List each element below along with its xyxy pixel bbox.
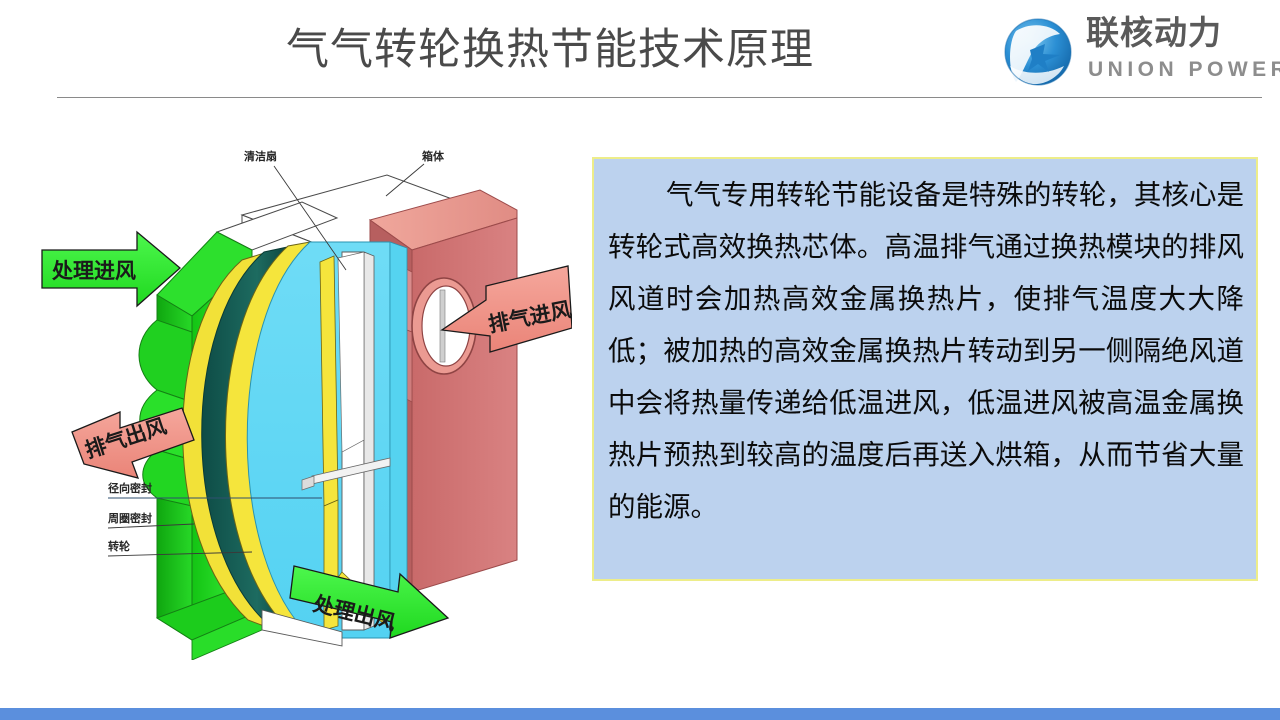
- company-logo: 联核动力 UNION POWER: [1000, 12, 1262, 92]
- flow-arrow-label-process-air-inlet: 处理进风: [51, 259, 136, 283]
- footer-accent-bar: [0, 708, 1280, 720]
- globe-swoosh-icon: [1000, 14, 1076, 90]
- page-title: 气气转轮换热节能技术原理: [200, 20, 900, 80]
- callout-label-circumferential-seal: 周圈密封: [108, 511, 152, 525]
- description-text-box: 气气专用转轮节能设备是特殊的转轮，其核心是转轮式高效换热芯体。高温排气通过换热模…: [592, 157, 1258, 581]
- logo-name-en: UNION POWER: [1088, 57, 1280, 83]
- slide-header: 气气转轮换热节能技术原理: [0, 0, 1280, 100]
- callout-label-rotor-wheel: 转轮: [108, 539, 130, 553]
- callout-label-clean-sector: 清洁扇: [244, 149, 277, 163]
- logo-name-cn: 联核动力: [1086, 14, 1222, 52]
- header-divider: [57, 97, 1262, 98]
- callout-label-housing: 箱体: [422, 149, 445, 163]
- rotary-heat-exchanger-diagram: 清洁扇 箱体 径向密封 周圈密封 转轮 处理进风 排气进风: [12, 140, 572, 660]
- description-paragraph: 气气专用转轮节能设备是特殊的转轮，其核心是转轮式高效换热芯体。高温排气通过换热模…: [608, 169, 1244, 533]
- callout-label-radial-seal: 径向密封: [108, 481, 152, 495]
